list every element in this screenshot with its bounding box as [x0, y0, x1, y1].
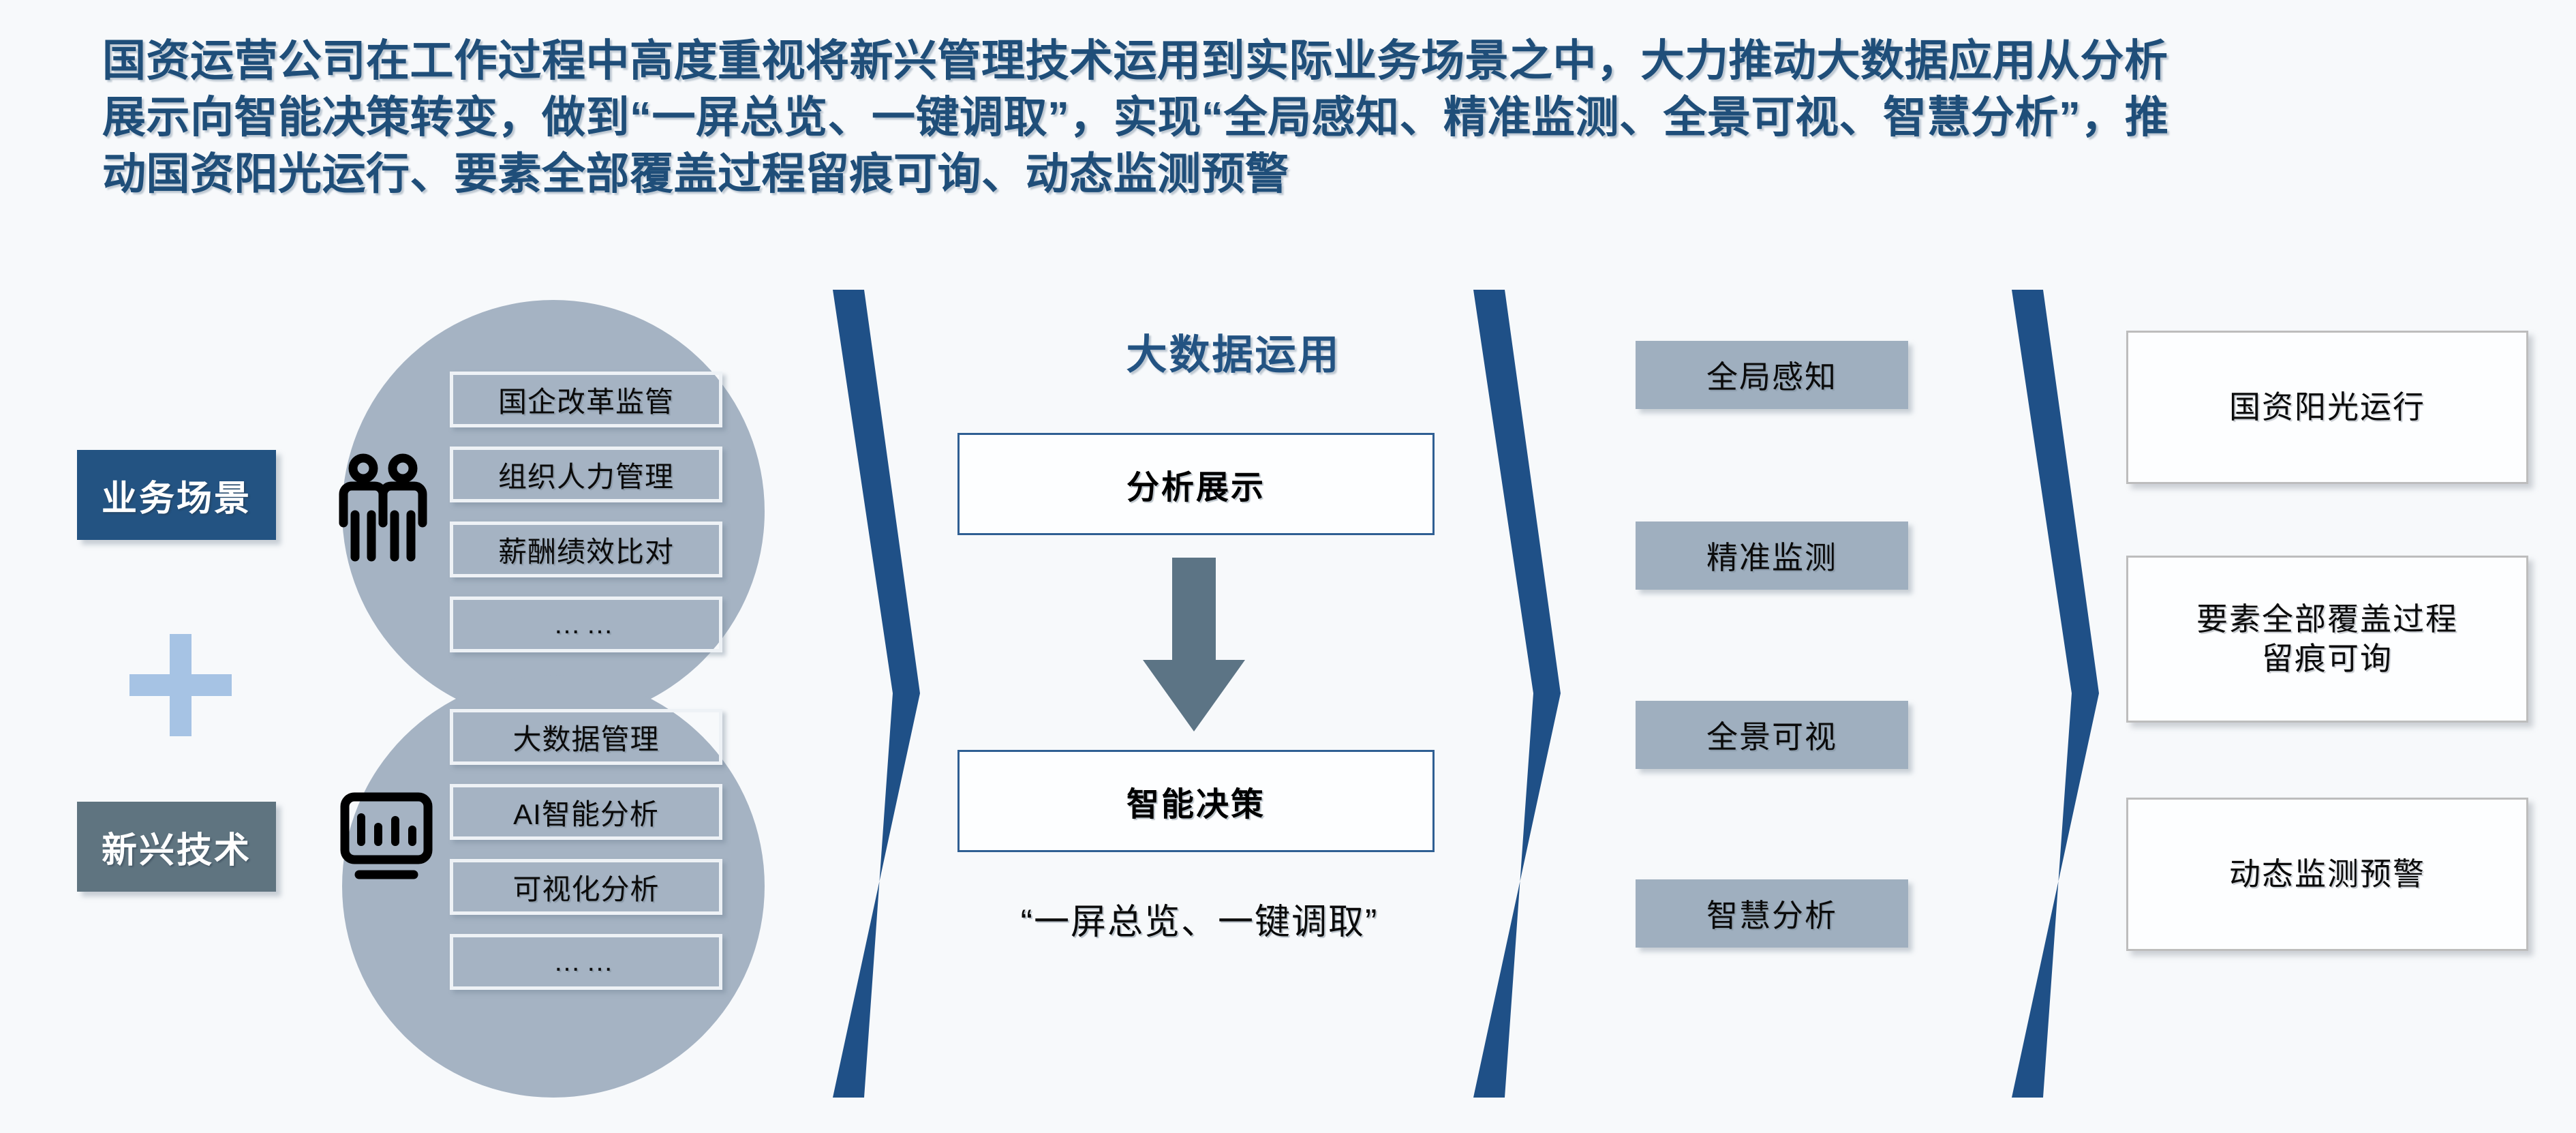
list-item-label: 大数据管理 [512, 716, 659, 758]
badge-business-scenario-label: 业务场景 [102, 470, 251, 521]
badge-emerging-technology-label: 新兴技术 [102, 821, 251, 873]
list-item-label: 可视化分析 [512, 866, 659, 908]
list-item-ellipsis[interactable]: …… [450, 934, 722, 990]
list-item-label: …… [553, 947, 619, 978]
stage-box-analysis-display[interactable]: 分析展示 [957, 433, 1435, 535]
capability-box[interactable]: 全局感知 [1636, 341, 1908, 409]
stage-box-analysis-display-label: 分析展示 [1126, 460, 1266, 508]
list-item[interactable]: 可视化分析 [450, 859, 722, 915]
outcome-box[interactable]: 要素全部覆盖过程留痕可询 [2126, 556, 2528, 723]
list-item[interactable]: 组织人力管理 [450, 447, 722, 502]
page-title-line-3: 动国资阳光运行、要素全部覆盖过程留痕可询、动态监测预警 [102, 146, 2467, 202]
middle-column-title: 大数据运用 [995, 322, 1472, 381]
list-item-label: 国企改革监管 [498, 379, 674, 421]
capability-box-label: 精准监测 [1706, 533, 1837, 578]
stage-box-intelligent-decision-label: 智能决策 [1126, 777, 1266, 825]
chevron-separator-1 [818, 290, 934, 1098]
page-title-line-2: 展示向智能决策转变，做到“一屏总览、一键调取”，实现“全局感知、精准监测、全景可… [102, 89, 2467, 146]
page-title-line-1: 国资运营公司在工作过程中高度重视将新兴管理技术运用到实际业务场景之中，大力推动大… [102, 33, 2467, 89]
slide-canvas: 国资运营公司在工作过程中高度重视将新兴管理技术运用到实际业务场景之中，大力推动大… [0, 0, 2576, 1133]
list-item[interactable]: 国企改革监管 [450, 372, 722, 427]
chevron-separator-2 [1458, 290, 1574, 1098]
outcome-box-label: 国资阳光运行 [2229, 388, 2425, 427]
list-item[interactable]: 薪酬绩效比对 [450, 522, 722, 577]
two-people-icon [339, 453, 427, 566]
page-title: 国资运营公司在工作过程中高度重视将新兴管理技术运用到实际业务场景之中，大力推动大… [102, 33, 2467, 203]
outcome-box-label: 动态监测预警 [2229, 855, 2425, 894]
outcome-box-label: 要素全部覆盖过程留痕可询 [2196, 600, 2458, 678]
stage-box-intelligent-decision[interactable]: 智能决策 [957, 750, 1435, 852]
plus-icon [129, 634, 232, 736]
chevron-separator-3 [1997, 290, 2113, 1098]
monitor-bar-chart-icon [339, 787, 434, 890]
capability-box-label: 全局感知 [1706, 352, 1837, 397]
list-item-label: 薪酬绩效比对 [498, 529, 674, 571]
list-item[interactable]: 大数据管理 [450, 709, 722, 765]
outcome-box[interactable]: 国资阳光运行 [2126, 331, 2528, 484]
capability-box-label: 全景可视 [1706, 712, 1837, 757]
outcome-box[interactable]: 动态监测预警 [2126, 798, 2528, 951]
badge-business-scenario[interactable]: 业务场景 [77, 450, 276, 540]
middle-column-caption: “一屏总览、一键调取” [940, 893, 1458, 944]
list-item-ellipsis[interactable]: …… [450, 596, 722, 652]
list-item-label: AI智能分析 [513, 791, 659, 833]
list-item[interactable]: AI智能分析 [450, 784, 722, 840]
capability-box[interactable]: 智慧分析 [1636, 879, 1908, 948]
badge-emerging-technology[interactable]: 新兴技术 [77, 802, 276, 892]
list-item-label: …… [553, 609, 619, 640]
capability-box[interactable]: 全景可视 [1636, 701, 1908, 769]
down-arrow-icon [1139, 558, 1248, 735]
capability-box-label: 智慧分析 [1706, 891, 1837, 936]
list-item-label: 组织人力管理 [498, 454, 674, 496]
capability-box[interactable]: 精准监测 [1636, 522, 1908, 590]
